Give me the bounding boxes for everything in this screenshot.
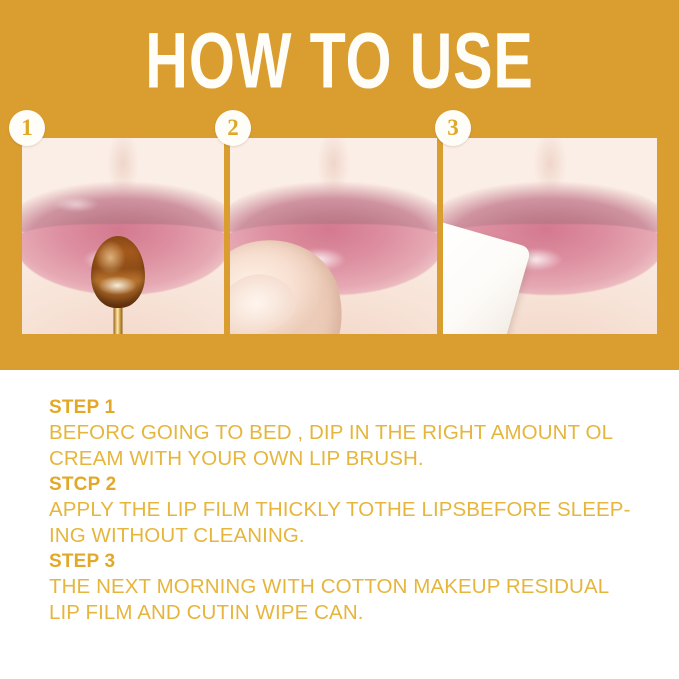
instruction-step-2: STCP 2 APPLY THE LIP FILM THICKLY TOTHE … [49,472,659,549]
step-photo-2 [230,138,437,334]
step-badge-3: 3 [435,110,471,146]
instruction-step-1: STEP 1 BEFORC GOING TO BED , DIP IN THE … [49,395,659,472]
step-2-heading: STCP 2 [49,472,659,497]
step-badge-2: 2 [215,110,251,146]
step-3-body: THE NEXT MORNING WITH COTTON MAKEUP RESI… [49,574,659,626]
step-photo-3 [443,138,657,334]
step-3-line-1: THE NEXT MORNING WITH COTTON MAKEUP RESI… [49,574,659,600]
step-photo-strip [22,138,657,334]
step-3-heading: STEP 3 [49,549,659,574]
page-title: HOW TO USE [68,22,611,100]
step-1-body: BEFORC GOING TO BED , DIP IN THE RIGHT A… [49,420,659,472]
step-1-line-1: BEFORC GOING TO BED , DIP IN THE RIGHT A… [49,420,659,446]
step-2-line-1: APPLY THE LIP FILM THICKLY TOTHE LIPSBEF… [49,497,659,523]
fingernail-icon [230,266,302,334]
lips-photo-fingertip [230,138,437,334]
step-photo-1 [22,138,224,334]
step-2-line-2: ING WITHOUT CLEANING. [49,523,659,549]
step-3-line-2: LIP FILM AND CUTIN WIPE CAN. [49,600,659,626]
step-1-heading: STEP 1 [49,395,659,420]
instruction-step-3: STEP 3 THE NEXT MORNING WITH COTTON MAKE… [49,549,659,626]
lips-photo-cotton-pad [443,138,657,334]
instructions-list: STEP 1 BEFORC GOING TO BED , DIP IN THE … [49,395,659,626]
applicator-tip-icon [91,236,145,308]
step-1-line-2: CREAM WITH YOUR OWN LIP BRUSH. [49,446,659,472]
how-to-use-banner: HOW TO USE [0,0,679,370]
step-badge-1: 1 [9,110,45,146]
lips-photo-applicator [22,138,224,334]
step-2-body: APPLY THE LIP FILM THICKLY TOTHE LIPSBEF… [49,497,659,549]
